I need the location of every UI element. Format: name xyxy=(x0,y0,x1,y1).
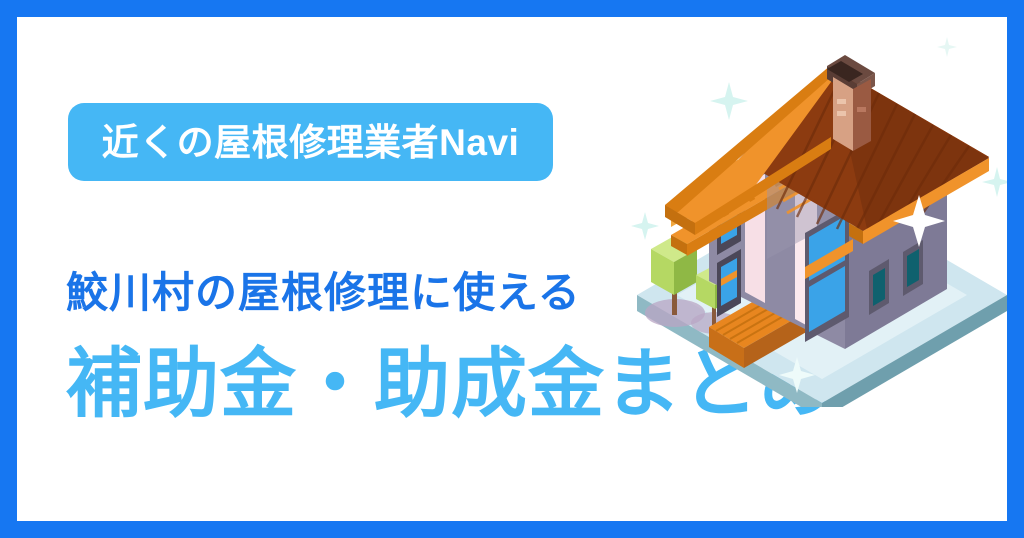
sparkle-mid-left-icon xyxy=(631,212,659,240)
isometric-house-illustration: イラスト：一戸建て住宅（屋根・煙突・バルコニー・樹木） xyxy=(617,27,1007,407)
banner-container: 近くの屋根修理業者Navi 鮫川村の屋根修理に使える 補助金・助成金まとめ イラ… xyxy=(0,0,1024,538)
sparkle-top-left-icon xyxy=(710,82,748,120)
site-name-badge-label: 近くの屋根修理業者Navi xyxy=(102,124,520,161)
sparkle-top-right-icon xyxy=(937,37,957,57)
chimney-icon xyxy=(827,55,875,151)
site-name-badge: 近くの屋根修理業者Navi xyxy=(68,103,553,181)
banner-canvas: 近くの屋根修理業者Navi 鮫川村の屋根修理に使える 補助金・助成金まとめ イラ… xyxy=(17,17,1007,521)
subtitle-text: 鮫川村の屋根修理に使える xyxy=(66,272,581,314)
